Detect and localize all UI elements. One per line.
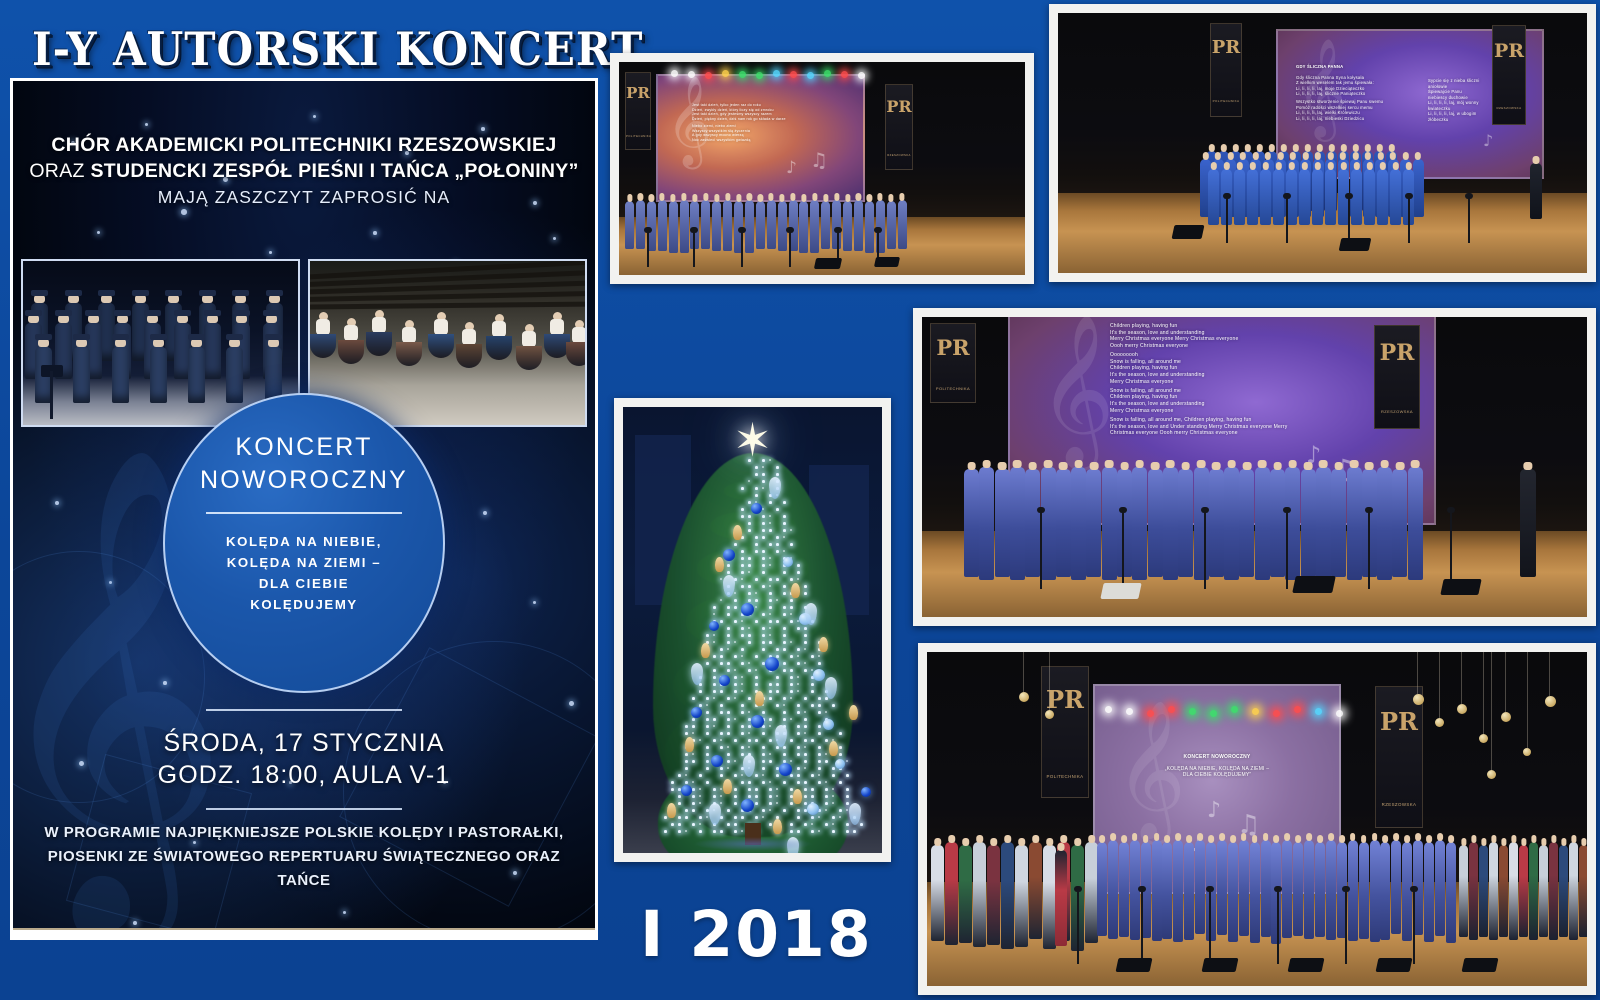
tree-light [846, 823, 849, 826]
tree-ornament [751, 715, 764, 728]
tree-light [769, 620, 772, 623]
tree-ornament [691, 707, 702, 718]
choir-singer [1359, 842, 1369, 939]
folk-performer [1469, 842, 1478, 940]
university-banner: PR POLITECHNIKA [625, 72, 651, 150]
tree-light [783, 627, 786, 630]
choir-singer [73, 347, 90, 403]
tree-light [748, 725, 751, 728]
tree-light [762, 585, 765, 588]
tree-light [769, 522, 771, 524]
folk-performer [1559, 845, 1568, 937]
tree-light [734, 599, 737, 602]
bauble-string [1439, 652, 1440, 718]
tree-light [811, 683, 814, 686]
mic-stand [1141, 890, 1143, 964]
tree-light [832, 802, 834, 804]
lyric-line: Christmas everyone Oooh merry Christmas … [1110, 430, 1410, 437]
tree-light [769, 753, 771, 755]
tree-light [783, 585, 786, 588]
tree-light [776, 774, 779, 777]
tree-light [748, 732, 750, 734]
tree-light [783, 550, 785, 552]
tree-gold-ornament [733, 525, 742, 540]
tree-light [755, 599, 758, 602]
tree-light [762, 753, 765, 756]
tree-star-topper-icon: ✶ [733, 413, 772, 467]
tree-light [713, 795, 716, 798]
tree-light [804, 697, 807, 700]
choir-singer [1239, 469, 1254, 577]
tree-light [804, 760, 807, 763]
tree-light [678, 830, 681, 833]
hanging-bauble [1435, 718, 1444, 727]
choir-singer [1152, 840, 1162, 941]
stage-light [1231, 706, 1238, 713]
tree-light [692, 697, 695, 700]
choir-singer [1224, 467, 1239, 580]
tree-light [734, 739, 737, 742]
choir-singer [1408, 467, 1423, 580]
folk-performer [931, 845, 944, 941]
mic-stand [1226, 197, 1228, 243]
tree-light [818, 725, 821, 728]
tree-gold-ornament [849, 705, 858, 720]
choir-singer [625, 201, 634, 249]
tree-light [769, 613, 771, 615]
stage-light [1252, 708, 1259, 715]
hanging-bauble [1413, 694, 1424, 705]
tree-light [692, 760, 695, 763]
tree-light [748, 522, 751, 525]
tree-light [839, 753, 842, 756]
tree-light [776, 473, 779, 476]
stage-light [1168, 706, 1175, 713]
tree-light [748, 585, 751, 588]
tree-light [713, 725, 715, 727]
tree-ornament [741, 799, 754, 812]
tree-light [706, 725, 709, 728]
university-banner: PR POLITECHNIKA [1210, 23, 1242, 117]
tree-light [769, 564, 771, 566]
tree-light [734, 676, 737, 679]
tree-light [776, 599, 778, 601]
pr-logo: PR [1494, 40, 1524, 62]
banner-caption: POLITECHNIKA [931, 386, 975, 391]
tree-light [790, 830, 793, 833]
tree-light [706, 662, 709, 665]
poster-date-block: ŚRODA, 17 STYCZNIA GODZ. 18:00, AULA V-1 [13, 709, 595, 810]
tree-light [804, 585, 807, 588]
star-dot [313, 115, 316, 118]
tree-light [776, 802, 778, 804]
dancer-skirt [486, 336, 512, 360]
choir-singer [1217, 840, 1227, 935]
tree-light [797, 816, 800, 819]
tree-light [741, 725, 744, 728]
tree-light [769, 557, 771, 559]
stage-monitor [1292, 576, 1336, 593]
stage-monitor [1288, 958, 1325, 972]
photo-choir-english-carol: 𝄞 Children playing, having funIt's the s… [922, 317, 1587, 617]
tree-light [846, 809, 848, 811]
tree-light [783, 592, 786, 595]
choir-singer [1209, 469, 1224, 577]
tree-light [776, 466, 779, 469]
choir-singer [1316, 467, 1331, 580]
choir-singer [1178, 469, 1193, 577]
choir-singer [1041, 467, 1056, 580]
tree-light [720, 732, 723, 735]
tree-light [832, 816, 835, 819]
tree-light [825, 760, 828, 763]
tree-light [741, 634, 744, 637]
poster-host-line-3: MAJĄ ZASZCZYT ZAPROSIĆ NA [13, 184, 595, 210]
tree-light [797, 704, 800, 707]
tree-light [706, 760, 709, 763]
poster-date-line: ŚRODA, 17 STYCZNIA [13, 726, 595, 760]
choir-singer [1234, 169, 1245, 225]
tree-light [797, 774, 800, 777]
tree-light [741, 830, 743, 832]
stage-light [671, 70, 678, 77]
screen-lyrics-title-and-column-1: GDY ŚLICZNA PANNAGdy śliczna Panna Syna … [1296, 64, 1416, 121]
choir-singer [1392, 469, 1407, 577]
choir-singer [1380, 842, 1390, 940]
screen-title-block: KONCERT NOWOROCZNY „KOLĘDA NA NIEBIE, KO… [1095, 754, 1339, 779]
choir-singer [1370, 840, 1380, 942]
tree-light [727, 760, 730, 763]
choir-singer [1261, 840, 1271, 937]
tree-light [748, 459, 751, 462]
tree-light [846, 795, 849, 798]
tree-light [671, 788, 674, 791]
choir-singer [1312, 169, 1323, 225]
tree-light [734, 620, 737, 623]
tree-light [790, 788, 793, 791]
tree-light [748, 669, 751, 672]
tree-light [797, 690, 799, 692]
folk-performer [1509, 842, 1518, 940]
tree-light [734, 683, 737, 686]
poster-program-line-1: W PROGRAMIE NAJPIĘKNIEJSZE POLSKIE KOLĘD… [31, 821, 577, 845]
tree-light [720, 620, 723, 623]
tree-gold-ornament [755, 691, 764, 706]
tree-light [762, 767, 765, 770]
tree-light [797, 564, 800, 567]
choir-singer [1208, 169, 1219, 225]
tree-light [762, 564, 765, 567]
tree-ornament [681, 785, 692, 796]
tree-light [685, 767, 688, 770]
choir-singer [778, 201, 787, 251]
tree-light [776, 648, 779, 651]
tree-light [755, 466, 758, 469]
dancer-blouse [522, 331, 536, 347]
tree-light [762, 529, 765, 532]
tree-light [720, 802, 722, 804]
bauble-string [1483, 652, 1484, 734]
tree-light [671, 823, 674, 826]
tree-light [727, 823, 730, 826]
stage-monitor [1100, 583, 1141, 599]
tree-light [748, 739, 751, 742]
tree-light [804, 739, 807, 742]
tree-light [839, 781, 842, 784]
tree-light [797, 732, 800, 735]
hanging-bauble [1501, 712, 1511, 722]
tree-light [727, 725, 730, 728]
banner-caption: POLITECHNIKA [1042, 774, 1088, 779]
choir-singer [745, 200, 754, 253]
tree-light [685, 753, 688, 756]
tree-light [811, 739, 814, 742]
tree-light [755, 788, 758, 791]
tree-light [790, 655, 793, 658]
tree-light [825, 711, 827, 713]
tree-light [727, 753, 730, 756]
tree-light [755, 683, 758, 686]
star-dot [481, 127, 485, 131]
tree-light [699, 795, 701, 797]
tree-light [783, 648, 786, 651]
tree-light [706, 704, 708, 706]
tree-light [783, 704, 785, 706]
music-note-icon: ♫ [810, 148, 828, 172]
tree-light [692, 718, 695, 721]
tree-light [811, 669, 813, 671]
tree-light [727, 718, 730, 721]
tree-light [804, 746, 806, 748]
tree-light [720, 788, 722, 790]
soloist [1055, 850, 1067, 946]
tree-light [804, 648, 806, 650]
tree-light [762, 508, 764, 510]
dancer-skirt [310, 334, 336, 358]
tree-light [790, 683, 793, 686]
tree-light [748, 592, 751, 595]
tree-light [818, 662, 821, 665]
university-banner: PR RZESZOWSKA [1375, 686, 1423, 828]
tree-light [762, 473, 765, 476]
choir-singer [1239, 840, 1249, 936]
folk-performer [1549, 842, 1558, 940]
tree-light [741, 627, 744, 630]
tree-light [755, 795, 758, 798]
tree-light [762, 487, 764, 489]
tree-light [762, 536, 765, 539]
tree-ornament [741, 603, 754, 616]
choir-singer [1195, 840, 1205, 934]
tree-light [811, 690, 814, 693]
tree-light [706, 753, 709, 756]
stage-monitor [1462, 958, 1499, 972]
tree-light [797, 676, 799, 678]
mic-stand [1209, 890, 1211, 964]
page-title: I-Y AUTORSKI KONCERT [32, 22, 592, 78]
tree-ornament [709, 621, 719, 631]
emblem-subtitle-line-3: DLA CIEBIE [259, 573, 349, 594]
tree-light [804, 641, 807, 644]
tree-light [797, 683, 799, 685]
photo-christmas-tree: ✶ [623, 407, 882, 853]
tree-light [825, 788, 828, 791]
tree-light [762, 711, 765, 714]
choir-singer [1301, 469, 1316, 577]
choir-singer [810, 200, 819, 253]
tree-light [748, 564, 751, 567]
mic-stand [1077, 890, 1079, 964]
tree-light [769, 760, 772, 763]
tree-light [769, 501, 772, 504]
tree-light [825, 739, 828, 742]
stage-light [858, 72, 865, 79]
banner-caption: RZESZOWSKA [886, 153, 912, 157]
tree-light [706, 634, 709, 637]
tree-light [748, 781, 751, 784]
music-note-icon: ♪ [1483, 131, 1493, 150]
tree-light [769, 515, 771, 517]
tree-light [811, 655, 814, 658]
choir-singer [1326, 840, 1336, 940]
tree-light [734, 669, 736, 671]
tree-light [825, 823, 828, 826]
tree-gold-ornament [667, 803, 676, 818]
tree-light [734, 823, 737, 826]
tree-light [671, 781, 674, 784]
stage-monitor [1440, 579, 1481, 595]
tree-light [790, 620, 793, 623]
stage-monitor [1376, 958, 1413, 972]
tree-light [769, 578, 772, 581]
hanging-bauble [1523, 748, 1531, 756]
folk-performer [1479, 845, 1488, 937]
choir-singer [1056, 469, 1071, 577]
folk-performer [1499, 845, 1508, 937]
tree-light [755, 592, 757, 594]
lyric-line: Snow is falling, all around me, Children… [1110, 417, 1410, 424]
tree-ornament [711, 755, 723, 767]
stage-light [739, 71, 746, 78]
tree-ornament [765, 657, 779, 671]
mic-stand [1286, 197, 1288, 243]
tree-light [734, 760, 736, 762]
stage-light [807, 72, 814, 79]
choir-singer [865, 201, 874, 253]
tree-light [720, 767, 723, 770]
choir-singer [658, 200, 667, 251]
tree-light [727, 613, 730, 616]
tree-light [727, 641, 730, 644]
choir-singer [854, 200, 863, 251]
tree-light [720, 578, 722, 580]
choir-singer [1424, 842, 1434, 942]
choir-singer [1173, 840, 1183, 942]
tree-light [720, 704, 723, 707]
choir-singer [756, 201, 765, 249]
tree-light [790, 606, 793, 609]
choir-singer [1108, 840, 1118, 939]
tree-light [825, 795, 828, 798]
tree-light [699, 774, 702, 777]
tree-light [706, 816, 708, 818]
tree-light [818, 774, 820, 776]
tree-light [762, 781, 765, 784]
tree-light [741, 655, 743, 657]
dancer-blouse [372, 317, 386, 333]
tree-gold-ornament [701, 643, 710, 658]
folk-performer [1579, 845, 1587, 937]
tree-light [804, 753, 807, 756]
folk-performer [987, 845, 1000, 945]
tree-light [769, 781, 771, 783]
stage-light [773, 70, 780, 77]
tree-light [818, 746, 821, 749]
choir-singer [1435, 840, 1445, 936]
screen-title: KONCERT NOWOROCZNY [1095, 754, 1339, 761]
choir-singer [1364, 169, 1375, 225]
tree-light [790, 739, 793, 742]
tree-light [811, 704, 814, 707]
tree-light [797, 809, 800, 812]
stage-light [1105, 706, 1112, 713]
tree-light [818, 767, 821, 770]
tree-light [797, 767, 800, 770]
tree-light [797, 662, 800, 665]
choir-singer [1260, 169, 1271, 225]
tree-light [776, 543, 779, 546]
tree-light [755, 669, 757, 671]
tree-light [727, 732, 730, 735]
dancer-skirt [516, 346, 542, 370]
tree-light [734, 606, 737, 609]
bauble-string [1049, 652, 1050, 710]
tree-light [720, 739, 722, 741]
choir-singer [188, 347, 205, 403]
screen-title: GDY ŚLICZNA PANNA [1296, 64, 1416, 70]
tree-light [804, 781, 807, 784]
tree-light [762, 641, 765, 644]
tree-light [769, 459, 771, 461]
tree-light [804, 795, 807, 798]
tree-light [804, 823, 807, 826]
choir-singer [1413, 159, 1424, 217]
screen-lyrics: Jest taki dzień, tylko jeden raz do roku… [692, 103, 842, 143]
mic-stand [1286, 511, 1288, 589]
tree-ornament [807, 803, 819, 815]
tree-ornament [723, 549, 735, 561]
tree-light [713, 641, 715, 643]
tree-light [839, 809, 842, 812]
tree-light [783, 571, 786, 574]
pr-logo: PR [886, 97, 911, 116]
tree-light [741, 578, 743, 580]
stage-monitor [1202, 958, 1239, 972]
tree-light [769, 529, 772, 532]
stage-light [1189, 708, 1196, 715]
tree-light [769, 823, 772, 826]
tree-light [685, 732, 688, 735]
choir-singer [1250, 842, 1260, 943]
tree-light [769, 599, 772, 602]
tree-light [769, 634, 771, 636]
tree-light [755, 606, 757, 608]
tree-gold-ornament [685, 737, 694, 752]
tree-light [741, 676, 743, 678]
tree-light [699, 788, 701, 790]
pr-logo: PR [936, 335, 969, 360]
tree-light [818, 655, 820, 657]
